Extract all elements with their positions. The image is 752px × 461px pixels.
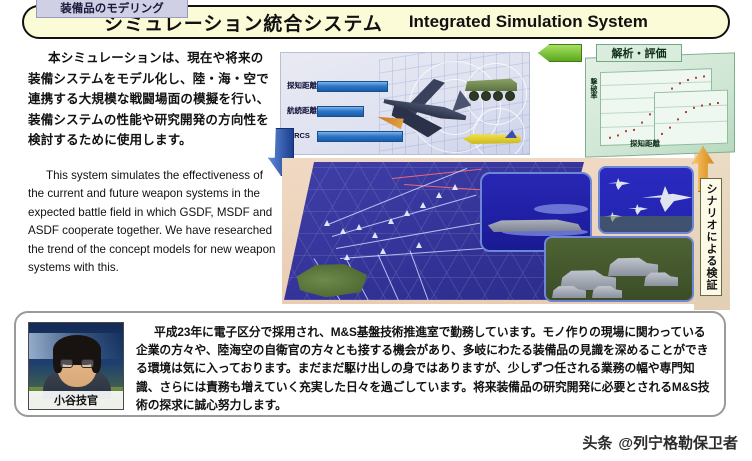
watermark-platform: 头条	[582, 432, 612, 453]
watermark: 头条 @列宁格勒保卫者	[582, 432, 738, 453]
battlefield-scene	[282, 158, 694, 304]
description-column: 本シミュレーションは、現在や将来の装備システムをモデル化し、陸・海・空で連携する…	[28, 48, 276, 278]
title-english: Integrated Simulation System	[409, 12, 648, 32]
bar-label-detection-range: 探知距離	[287, 82, 317, 91]
submarine-model	[463, 130, 525, 148]
air-operations-panel	[598, 166, 694, 234]
equipment-modeling-panel: 探知距離 航続距離 RCS	[280, 52, 530, 155]
analysis-evaluation-panel	[585, 52, 735, 157]
staff-profile-panel: 小谷技官 平成23年に電子区分で採用され、M&S基盤技術推進室で勤務しています。…	[14, 311, 726, 417]
analysis-x-axis-label: 探知距離	[630, 138, 660, 149]
ground-forces-panel	[544, 236, 694, 302]
description-japanese: 本シミュレーションは、現在や将来の装備システムをモデル化し、陸・海・空で連携する…	[28, 48, 276, 151]
aircraft-model	[642, 186, 692, 212]
bar-fill-cruising-range	[317, 106, 364, 117]
analysis-y-axis-label: 撃破率	[588, 78, 598, 99]
analysis-panel-title: 解析・評価	[596, 44, 682, 62]
slide-root: シミュレーション統合システム Integrated Simulation Sys…	[0, 0, 752, 461]
watermark-handle: @列宁格勒保卫者	[618, 432, 738, 453]
analysis-inset-plot	[654, 90, 728, 147]
modeling-panel-title: 装備品のモデリング	[36, 0, 188, 18]
tank-model	[608, 252, 658, 276]
armored-vehicle-model	[465, 75, 521, 101]
aircraft-model	[628, 204, 648, 215]
bar-label-cruising-range: 航続距離	[287, 107, 317, 116]
arrow-left-icon	[538, 44, 582, 62]
staff-name-caption: 小谷技官	[29, 391, 123, 409]
aircraft-model	[608, 178, 630, 190]
description-english: This system simulates the effectiveness …	[28, 167, 276, 278]
staff-profile-text: 平成23年に電子区分で採用され、M&S基盤技術推進室で勤務しています。モノ作りの…	[136, 323, 710, 414]
staff-photo: 小谷技官	[28, 322, 124, 410]
scenario-verification-label: シナリオによる検証	[700, 178, 722, 296]
fighter-jet-model	[373, 77, 473, 139]
